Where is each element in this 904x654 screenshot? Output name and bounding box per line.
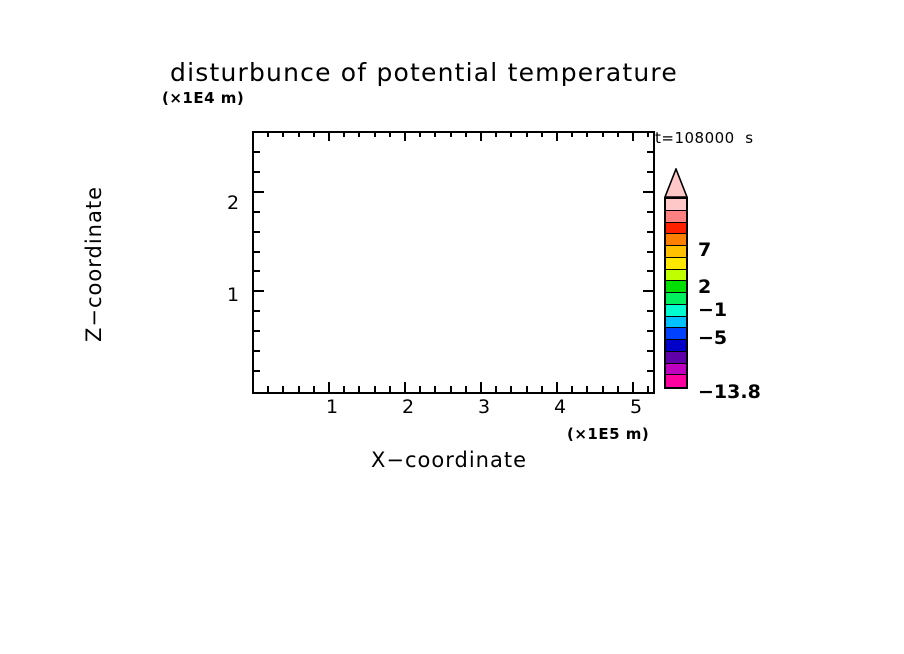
x-minor-tick xyxy=(450,386,452,392)
x-minor-tick-top xyxy=(510,131,512,137)
y-major-tick xyxy=(254,191,264,193)
colorbar-band xyxy=(666,352,686,364)
plot-area xyxy=(252,131,655,394)
x-minor-tick-top xyxy=(647,131,649,137)
page-title: disturbunce of potential temperature xyxy=(170,58,678,87)
x-minor-tick xyxy=(434,386,436,392)
y-major-tick-right xyxy=(643,191,653,193)
y-minor-tick-right xyxy=(647,370,653,372)
x-tick-label: 3 xyxy=(469,396,499,418)
x-minor-tick-top xyxy=(389,131,391,137)
x-minor-tick xyxy=(282,386,284,392)
colorbar-tick-label: 2 xyxy=(698,276,711,298)
x-minor-tick xyxy=(465,386,467,392)
x-tick-label: 1 xyxy=(317,396,347,418)
x-minor-tick xyxy=(389,386,391,392)
x-major-tick xyxy=(404,382,406,392)
colorbar-band xyxy=(666,364,686,376)
x-major-tick xyxy=(556,382,558,392)
y-axis-title: Z−coordinate xyxy=(82,154,106,374)
x-minor-tick xyxy=(298,386,300,392)
y-minor-tick xyxy=(254,211,260,213)
x-minor-tick-top xyxy=(343,131,345,137)
x-minor-tick xyxy=(313,386,315,392)
colorbar-tick-label: 7 xyxy=(698,239,711,261)
x-minor-tick xyxy=(617,386,619,392)
x-major-tick-top xyxy=(632,131,634,141)
x-minor-tick-top xyxy=(298,131,300,137)
colorbar-band xyxy=(666,293,686,305)
x-major-tick xyxy=(328,382,330,392)
x-minor-tick xyxy=(647,386,649,392)
x-minor-tick-top xyxy=(358,131,360,137)
colorbar-band xyxy=(666,317,686,329)
x-minor-tick xyxy=(586,386,588,392)
timestamp-label: t=108000 s xyxy=(655,129,754,147)
x-minor-tick-top xyxy=(267,131,269,137)
y-major-tick xyxy=(254,290,264,292)
colorbar-arrow-cap-icon xyxy=(664,168,688,198)
y-minor-tick-right xyxy=(647,211,653,213)
x-tick-label: 2 xyxy=(393,396,423,418)
x-minor-tick-top xyxy=(282,131,284,137)
x-tick-label: 5 xyxy=(621,396,651,418)
x-minor-tick-top xyxy=(617,131,619,137)
x-minor-tick-top xyxy=(374,131,376,137)
x-axis-title: X−coordinate xyxy=(371,448,527,472)
colorbar-band xyxy=(666,199,686,211)
x-minor-tick-top xyxy=(541,131,543,137)
x-minor-tick xyxy=(419,386,421,392)
x-minor-tick-top xyxy=(313,131,315,137)
figure-canvas: disturbunce of potential temperature (×1… xyxy=(0,0,904,654)
y-minor-tick xyxy=(254,251,260,253)
x-minor-tick xyxy=(374,386,376,392)
x-major-tick-top xyxy=(404,131,406,141)
x-major-tick-top xyxy=(556,131,558,141)
x-minor-tick-top xyxy=(434,131,436,137)
y-minor-tick xyxy=(254,350,260,352)
y-minor-tick xyxy=(254,370,260,372)
colorbar: 72−1−5−13.8 xyxy=(658,168,778,394)
x-minor-tick xyxy=(358,386,360,392)
colorbar-tick-label: −1 xyxy=(698,299,727,321)
x-minor-tick xyxy=(571,386,573,392)
x-minor-tick-top xyxy=(602,131,604,137)
colorbar-band xyxy=(666,328,686,340)
x-minor-tick-top xyxy=(571,131,573,137)
colorbar-tick-label: −13.8 xyxy=(698,381,761,403)
y-minor-tick xyxy=(254,171,260,173)
x-major-tick-top xyxy=(328,131,330,141)
colorbar-band xyxy=(666,270,686,282)
y-minor-tick xyxy=(254,270,260,272)
x-minor-tick-top xyxy=(586,131,588,137)
x-tick-label: 4 xyxy=(545,396,575,418)
y-minor-tick-right xyxy=(647,330,653,332)
y-minor-tick-right xyxy=(647,251,653,253)
x-minor-tick-top xyxy=(419,131,421,137)
x-major-tick-top xyxy=(480,131,482,141)
colorbar-band xyxy=(666,375,686,387)
z-axis-units-label: (×1E4 m) xyxy=(162,89,244,107)
colorbar-tick-label: −5 xyxy=(698,327,727,349)
colorbar-band xyxy=(666,281,686,293)
x-axis-units-label: (×1E5 m) xyxy=(567,425,649,443)
x-minor-tick-top xyxy=(465,131,467,137)
x-minor-tick xyxy=(495,386,497,392)
x-minor-tick xyxy=(526,386,528,392)
x-minor-tick-top xyxy=(526,131,528,137)
y-minor-tick xyxy=(254,330,260,332)
x-major-tick xyxy=(480,382,482,392)
x-major-tick xyxy=(632,382,634,392)
colorbar-bands xyxy=(664,197,688,389)
y-minor-tick-right xyxy=(647,151,653,153)
colorbar-band xyxy=(666,234,686,246)
x-minor-tick-top xyxy=(450,131,452,137)
y-tick-label: 2 xyxy=(222,192,244,214)
y-minor-tick xyxy=(254,151,260,153)
contour-field xyxy=(254,133,653,392)
y-minor-tick-right xyxy=(647,350,653,352)
x-minor-tick xyxy=(602,386,604,392)
y-minor-tick xyxy=(254,310,260,312)
x-minor-tick xyxy=(510,386,512,392)
x-minor-tick xyxy=(343,386,345,392)
y-minor-tick-right xyxy=(647,231,653,233)
y-minor-tick-right xyxy=(647,270,653,272)
y-minor-tick-right xyxy=(647,310,653,312)
colorbar-band xyxy=(666,223,686,235)
colorbar-band xyxy=(666,258,686,270)
y-tick-label: 1 xyxy=(222,284,244,306)
colorbar-band xyxy=(666,211,686,223)
colorbar-band xyxy=(666,340,686,352)
y-minor-tick-right xyxy=(647,171,653,173)
colorbar-band xyxy=(666,305,686,317)
y-major-tick-right xyxy=(643,290,653,292)
y-minor-tick xyxy=(254,231,260,233)
x-minor-tick xyxy=(541,386,543,392)
colorbar-band xyxy=(666,246,686,258)
x-minor-tick-top xyxy=(495,131,497,137)
x-minor-tick xyxy=(267,386,269,392)
